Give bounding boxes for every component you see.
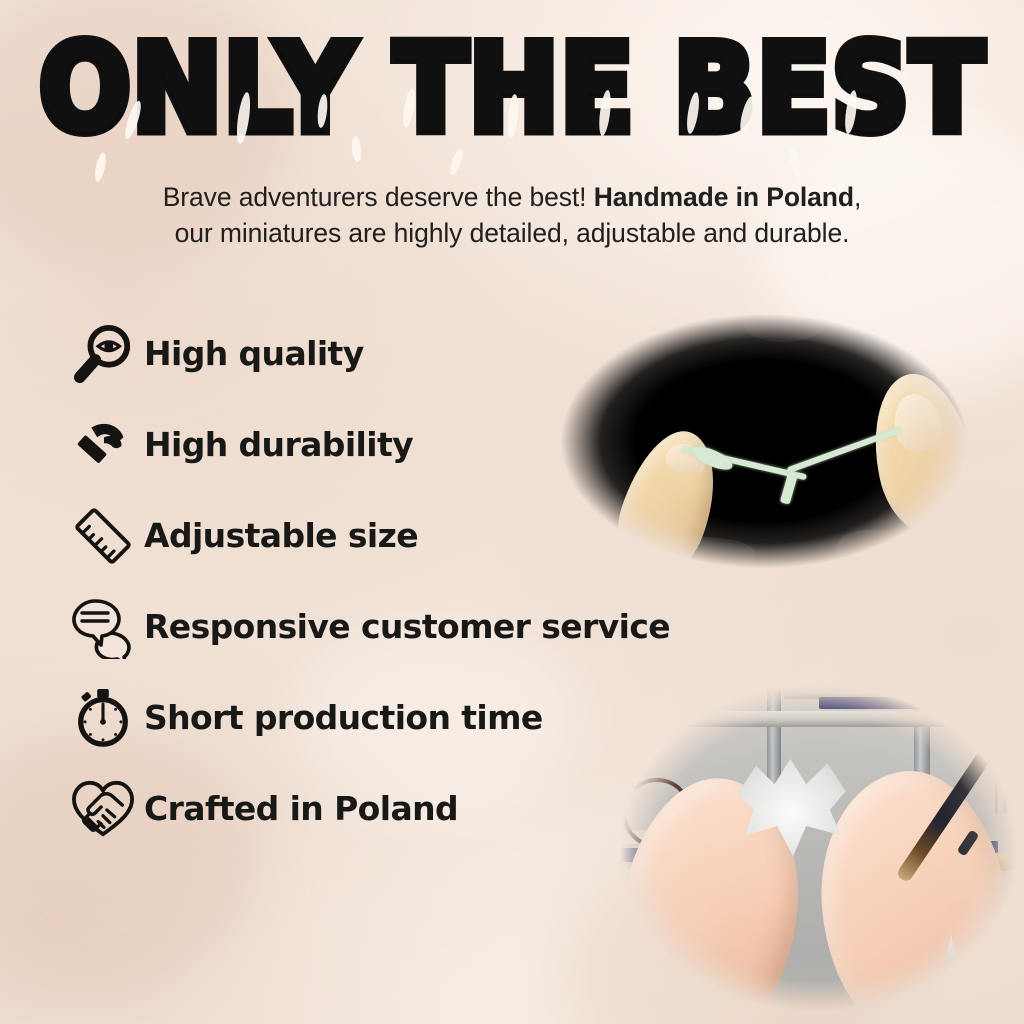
miniature-cluster bbox=[836, 683, 888, 693]
magnifier-eye-icon bbox=[62, 317, 144, 391]
ruler-icon bbox=[62, 499, 144, 573]
flexing-miniature-photo bbox=[516, 286, 1012, 596]
subtitle-lead: Brave adventurers deserve the best! bbox=[163, 182, 594, 212]
feature-label: Short production time bbox=[144, 698, 543, 737]
stopwatch-icon bbox=[62, 681, 144, 755]
subtitle-emphasis: Handmade in Poland bbox=[594, 182, 854, 212]
hammer-icon bbox=[62, 408, 144, 482]
feature-label: Adjustable size bbox=[144, 516, 418, 555]
shelf-board bbox=[639, 711, 1024, 727]
speech-bubbles-icon bbox=[62, 590, 144, 664]
feature-label: Responsive customer service bbox=[144, 607, 670, 646]
subtitle-tail: , bbox=[854, 182, 861, 212]
subtitle: Brave adventurers deserve the best! Hand… bbox=[60, 180, 964, 251]
headline-container: ONLY THE BEST bbox=[0, 36, 1024, 144]
handshake-heart-icon bbox=[62, 772, 144, 846]
feature-label: Crafted in Poland bbox=[144, 789, 458, 828]
subtitle-line-2: our miniatures are highly detailed, adju… bbox=[175, 218, 850, 248]
feature-label: High durability bbox=[144, 425, 413, 464]
miniature-tray bbox=[819, 697, 973, 709]
fingernail bbox=[889, 389, 946, 455]
page-title: ONLY THE BEST bbox=[39, 30, 985, 151]
poster-canvas: ONLY THE BEST Brave adventurers deserve … bbox=[0, 0, 1024, 1024]
feature-label: High quality bbox=[144, 334, 364, 373]
painting-miniature-photo bbox=[596, 672, 1024, 1024]
